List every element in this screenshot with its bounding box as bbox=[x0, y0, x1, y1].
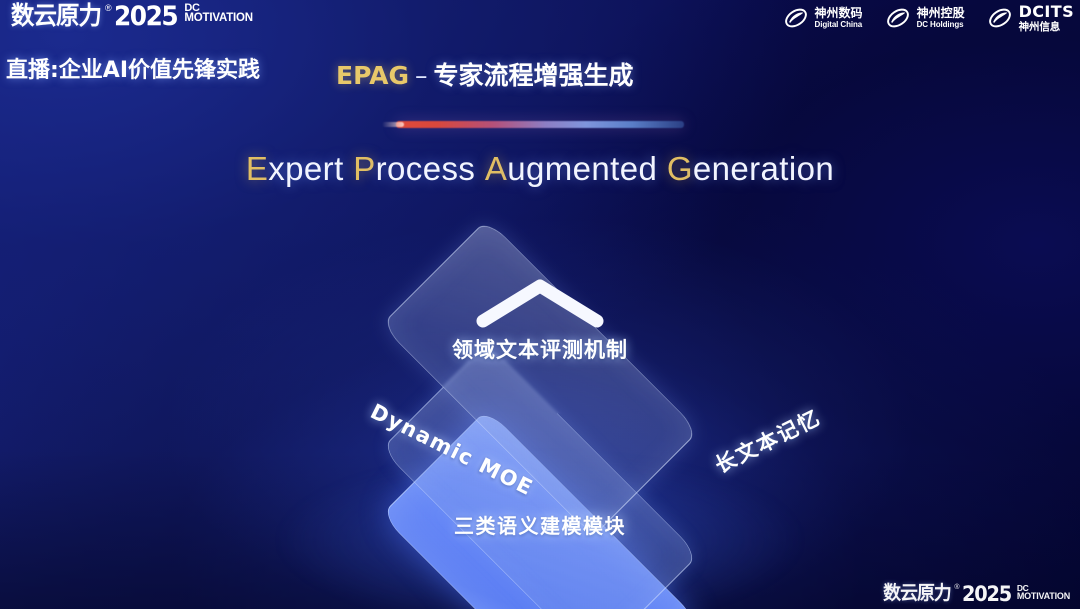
english-subtitle: Expert Process Augmented Generation bbox=[0, 150, 1080, 188]
subtitle-cap-e: E bbox=[246, 150, 268, 187]
slide-title: EPAG–专家流程增强生成 bbox=[336, 56, 634, 92]
logo-dc-holdings-en: DC Holdings bbox=[917, 21, 965, 29]
logo-dcits-en: DCITS bbox=[1019, 4, 1074, 20]
chevron-up-icon bbox=[474, 276, 606, 330]
subtitle-rest-expert: xpert bbox=[268, 150, 343, 187]
swoosh-icon bbox=[987, 5, 1013, 31]
title-divider-bar bbox=[396, 121, 684, 128]
slide-title-separator: – bbox=[415, 61, 428, 90]
subtitle-cap-p: P bbox=[353, 150, 375, 187]
brand-logo-dc-motivation: DC MOTIVATION bbox=[184, 3, 252, 24]
footer-brand-year: 2025 bbox=[962, 584, 1011, 605]
logo-dcits-cn: 神州信息 bbox=[1019, 22, 1074, 33]
logo-digital-china-cn: 神州数码 bbox=[815, 7, 863, 19]
brand-logo: 数云原力 ® 2025 DC MOTIVATION bbox=[8, 3, 253, 30]
subtitle-rest-generation: eneration bbox=[693, 150, 834, 187]
diagram-layer-top bbox=[390, 228, 690, 528]
subtitle-cap-g: G bbox=[667, 150, 693, 187]
slide-title-chinese: 专家流程增强生成 bbox=[433, 61, 633, 90]
diagram-label-top: 领域文本评测机制 bbox=[452, 334, 628, 364]
logo-digital-china-text: 神州数码 Digital China bbox=[815, 7, 863, 29]
footer-registered-mark: ® bbox=[954, 584, 959, 591]
diagram-plate-top bbox=[381, 219, 699, 537]
brand-motivation-text: MOTIVATION bbox=[184, 13, 252, 24]
subtitle-rest-augmented: ugmented bbox=[507, 150, 657, 187]
logo-digital-china: 神州数码 Digital China bbox=[783, 5, 863, 31]
brand-logo-chinese: 数云原力 bbox=[11, 3, 101, 28]
brand-registered-mark: ® bbox=[105, 3, 112, 13]
logo-digital-china-en: Digital China bbox=[815, 21, 863, 29]
logo-dcits: DCITS 神州信息 bbox=[987, 4, 1074, 33]
subtitle-rest-process: rocess bbox=[376, 150, 476, 187]
footer-brand-logo: 数云原力 ® 2025 DC MOTIVATION bbox=[881, 584, 1070, 605]
slide-title-acronym: EPAG bbox=[336, 61, 409, 90]
diagram-label-bottom: 三类语义建模模块 bbox=[454, 510, 626, 539]
subtitle-cap-a: A bbox=[485, 150, 507, 187]
partner-logo-bar: 神州数码 Digital China 神州控股 DC Holdings bbox=[783, 4, 1074, 33]
footer-brand-dc-motivation: DC MOTIVATION bbox=[1017, 584, 1070, 601]
slide-header: 数云原力 ® 2025 DC MOTIVATION 直播:企业AI价值先锋实践 … bbox=[0, 0, 1080, 96]
logo-dcits-text: DCITS 神州信息 bbox=[1019, 4, 1074, 33]
slide-stage: 数云原力 ® 2025 DC MOTIVATION 直播:企业AI价值先锋实践 … bbox=[0, 0, 1080, 609]
logo-dc-holdings: 神州控股 DC Holdings bbox=[885, 5, 965, 31]
live-stream-title: 直播:企业AI价值先锋实践 bbox=[6, 52, 260, 84]
logo-dc-holdings-cn: 神州控股 bbox=[917, 7, 965, 19]
footer-brand-chinese: 数云原力 bbox=[884, 584, 952, 603]
diagram-label-middle-right: 长文本记忆 bbox=[709, 402, 825, 480]
footer-motivation-text: MOTIVATION bbox=[1017, 592, 1070, 601]
brand-logo-year: 2025 bbox=[114, 3, 177, 30]
swoosh-icon bbox=[783, 5, 809, 31]
logo-dc-holdings-text: 神州控股 DC Holdings bbox=[917, 7, 965, 29]
swoosh-icon bbox=[885, 5, 911, 31]
